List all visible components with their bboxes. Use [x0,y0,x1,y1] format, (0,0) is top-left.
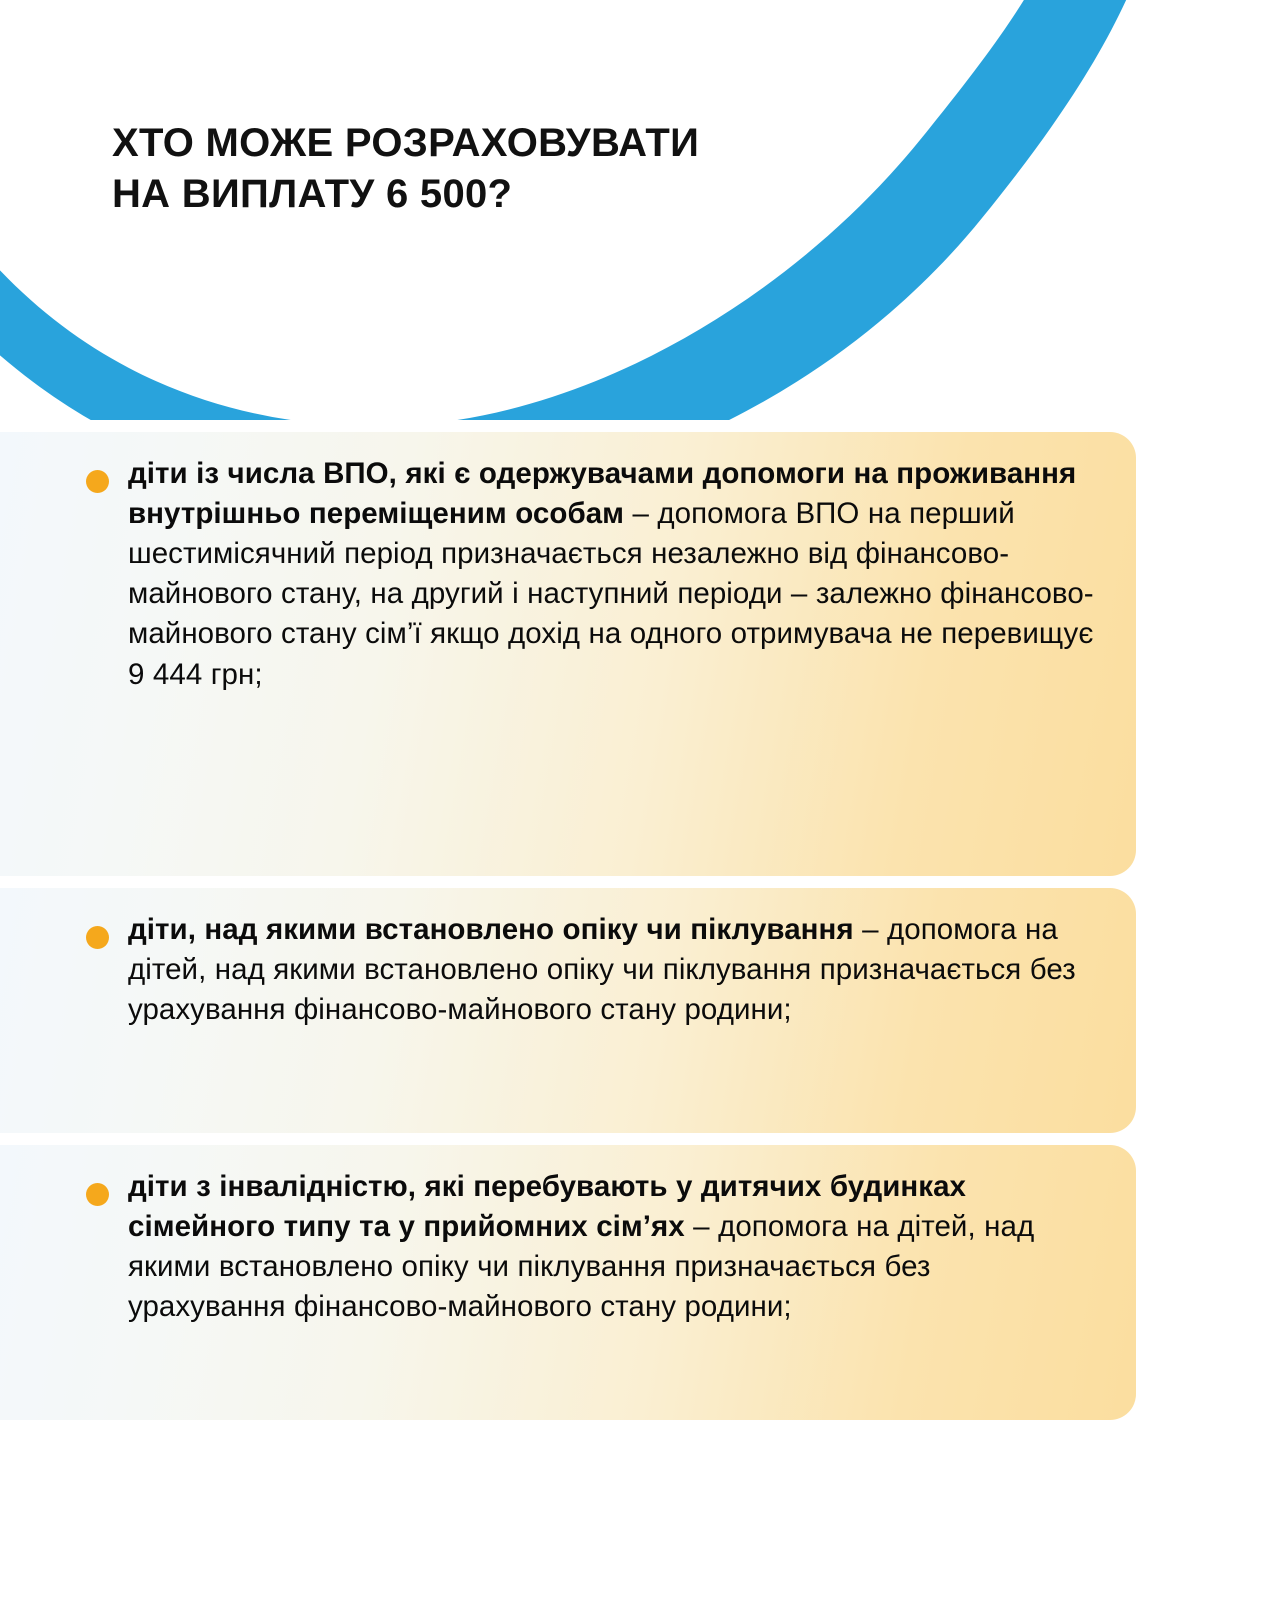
bullet-dot-icon [86,1183,109,1206]
card-content: діти із числа ВПО, які є одержувачами до… [128,454,1096,695]
card-paragraph: діти з інвалідністю, які перебувають у д… [128,1167,1096,1327]
card-content: діти, над якими встановлено опіку чи пік… [128,910,1096,1030]
bullet-dot-icon [86,926,109,949]
bullet-dot-icon [86,470,109,493]
page-title: ХТО МОЖЕ РОЗРАХОВУВАТИ НА ВИПЛАТУ 6 500? [112,118,872,220]
eligibility-card: діти із числа ВПО, які є одержувачами до… [0,432,1136,876]
infographic-page: ХТО МОЖЕ РОЗРАХОВУВАТИ НА ВИПЛАТУ 6 500?… [0,0,1280,1599]
card-content: діти з інвалідністю, які перебувають у д… [128,1167,1096,1327]
card-lead-text: діти, над якими встановлено опіку чи пік… [128,913,854,946]
eligibility-card-list: діти із числа ВПО, які є одержувачами до… [0,432,1280,1432]
card-paragraph: діти, над якими встановлено опіку чи пік… [128,910,1096,1030]
eligibility-card: діти, над якими встановлено опіку чи пік… [0,888,1136,1133]
header-section: ХТО МОЖЕ РОЗРАХОВУВАТИ НА ВИПЛАТУ 6 500? [0,0,1280,420]
card-paragraph: діти із числа ВПО, які є одержувачами до… [128,454,1096,695]
eligibility-card: діти з інвалідністю, які перебувають у д… [0,1145,1136,1420]
